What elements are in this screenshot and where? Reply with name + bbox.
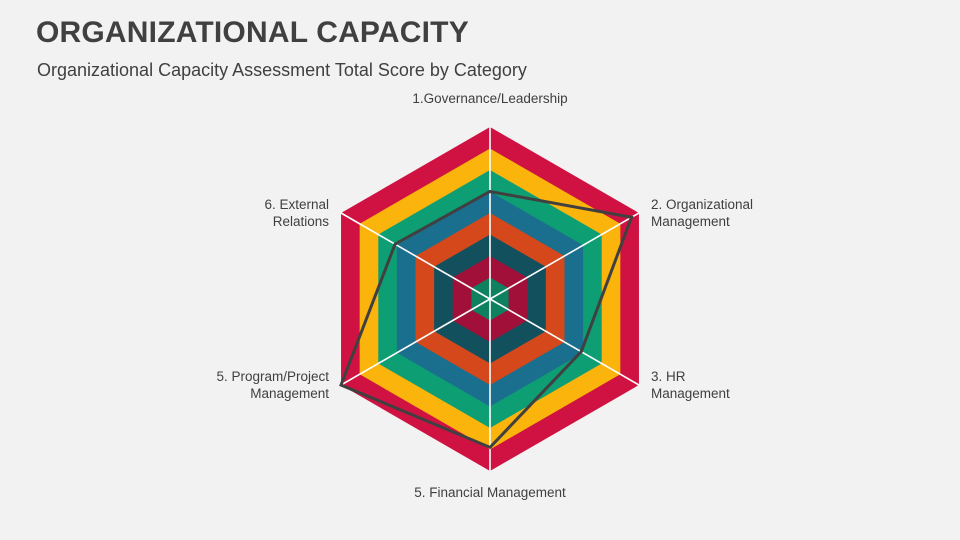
axis-label-hr-management: 3. HR Management [651,369,821,403]
axis-label-governance: 1.Governance/Leadership [380,91,600,108]
axis-label-external-relations: 6. External Relations [159,197,329,231]
axis-label-financial-management: 5. Financial Management [380,485,600,502]
radar-chart: 1.Governance/Leadership 2. Organizationa… [0,0,960,540]
axis-label-organizational-management: 2. Organizational Management [651,197,821,231]
radar-chart-svg [0,0,960,540]
axis-label-program-project-management: 5. Program/Project Management [159,369,329,403]
